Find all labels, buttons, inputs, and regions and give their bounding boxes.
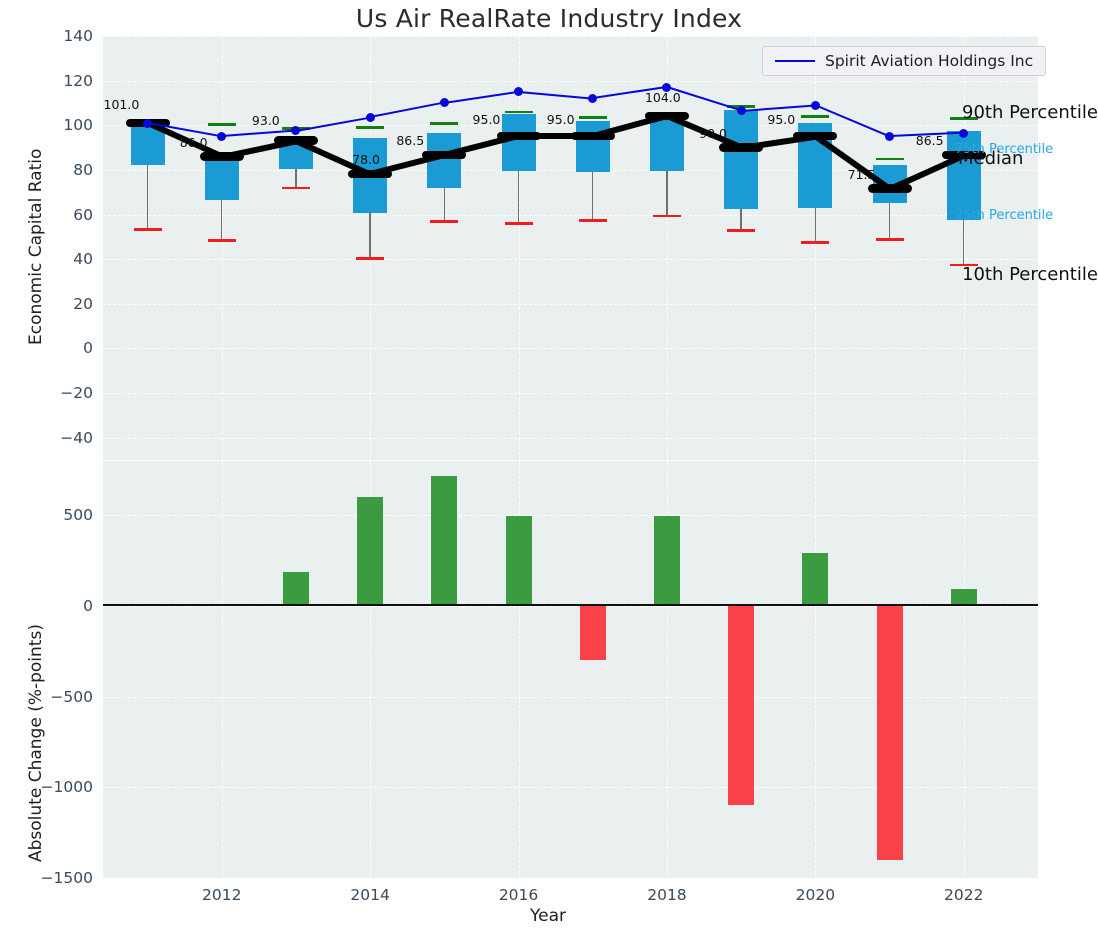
y-tick-label: 500 bbox=[5, 506, 93, 524]
p10-cap bbox=[727, 229, 755, 232]
median-marker bbox=[497, 132, 541, 141]
gridline-horizontal bbox=[103, 348, 1038, 349]
p10-cap bbox=[356, 257, 384, 260]
annotation-90th-percentile: 90th Percentile bbox=[962, 102, 1098, 123]
y-tick-label: 0 bbox=[5, 597, 93, 615]
peer-line-segment bbox=[370, 102, 445, 118]
peer-data-point bbox=[737, 106, 746, 115]
gridline-horizontal bbox=[103, 36, 1038, 37]
p10-cap bbox=[653, 215, 681, 218]
boxplot-box bbox=[724, 110, 758, 209]
bar-positive bbox=[802, 553, 828, 606]
peer-data-point bbox=[811, 101, 820, 110]
bar-positive bbox=[283, 572, 309, 606]
y-tick-label: 40 bbox=[5, 250, 93, 268]
p90-cap bbox=[801, 115, 829, 118]
p10-cap bbox=[282, 187, 310, 190]
p10-cap bbox=[208, 239, 236, 242]
median-marker bbox=[200, 152, 244, 161]
gridline-vertical bbox=[815, 461, 816, 878]
peer-line-segment bbox=[296, 116, 371, 131]
legend-spirit-aviation[interactable]: Spirit Aviation Holdings Inc bbox=[762, 46, 1046, 76]
median-value-label: 101.0 bbox=[104, 97, 140, 112]
y-tick-label: −40 bbox=[5, 429, 93, 447]
boxplot-box bbox=[502, 114, 536, 171]
p10-cap bbox=[801, 241, 829, 244]
median-marker bbox=[645, 112, 689, 121]
gridline-horizontal bbox=[103, 259, 1038, 260]
y-tick-label: 0 bbox=[5, 339, 93, 357]
median-value-label: 95.0 bbox=[473, 112, 501, 127]
annotation-10th-percentile: 10th Percentile bbox=[962, 264, 1098, 285]
gridline-vertical bbox=[815, 36, 816, 460]
y-tick-label: 60 bbox=[5, 206, 93, 224]
gridline-vertical bbox=[222, 461, 223, 878]
zero-baseline bbox=[103, 604, 1038, 606]
y-tick-label: 80 bbox=[5, 161, 93, 179]
gridline-horizontal bbox=[103, 438, 1038, 439]
x-tick-label: 2022 bbox=[924, 886, 1004, 904]
y-tick-label: 100 bbox=[5, 116, 93, 134]
x-axis-label: Year bbox=[530, 906, 566, 926]
legend-line-icon bbox=[775, 60, 815, 62]
x-tick-label: 2018 bbox=[627, 886, 707, 904]
median-value-label: 71.5 bbox=[848, 167, 876, 182]
x-tick-label: 2016 bbox=[479, 886, 559, 904]
median-value-label: 86.5 bbox=[916, 133, 944, 148]
peer-data-point bbox=[366, 113, 375, 122]
median-value-label: 90.0 bbox=[699, 126, 727, 141]
bar-negative bbox=[877, 606, 903, 860]
gridline-horizontal bbox=[103, 878, 1038, 879]
peer-data-point bbox=[885, 132, 894, 141]
y-tick-label: −1000 bbox=[5, 778, 93, 796]
p10-cap bbox=[505, 222, 533, 225]
economic-capital-ratio-plot-area: 101.086.093.078.086.595.095.0104.090.095… bbox=[103, 36, 1038, 460]
peer-data-point bbox=[588, 94, 597, 103]
median-marker bbox=[274, 136, 318, 145]
median-value-label: 86.5 bbox=[396, 133, 424, 148]
bar-positive bbox=[431, 476, 457, 607]
y-tick-label: −500 bbox=[5, 688, 93, 706]
chart-title: Us Air RealRate Industry Index bbox=[0, 4, 1098, 33]
gridline-horizontal bbox=[103, 304, 1038, 305]
absolute-change-plot-area bbox=[103, 461, 1038, 878]
bar-positive bbox=[654, 516, 680, 606]
legend-label: Spirit Aviation Holdings Inc bbox=[825, 52, 1033, 70]
peer-data-point bbox=[143, 119, 152, 128]
bar-negative bbox=[580, 606, 606, 660]
bar-positive bbox=[357, 497, 383, 606]
median-marker bbox=[422, 151, 466, 160]
gridline-vertical bbox=[222, 36, 223, 460]
p10-cap bbox=[430, 220, 458, 223]
median-value-label: 86.0 bbox=[180, 135, 208, 150]
gridline-horizontal bbox=[103, 515, 1038, 516]
chart-canvas: Us Air RealRate Industry Index 101.086.0… bbox=[0, 0, 1098, 942]
x-tick-label: 2014 bbox=[330, 886, 410, 904]
gridline-vertical bbox=[519, 36, 520, 460]
peer-line-segment bbox=[518, 91, 592, 100]
y-tick-label: 120 bbox=[5, 72, 93, 90]
gridline-horizontal bbox=[103, 215, 1038, 216]
p90-cap bbox=[208, 123, 236, 126]
annotation-median: Median bbox=[958, 148, 1023, 169]
peer-data-point bbox=[959, 129, 968, 138]
p90-cap bbox=[430, 122, 458, 125]
p90-cap bbox=[505, 111, 533, 114]
p90-cap bbox=[356, 126, 384, 129]
median-marker bbox=[571, 132, 615, 141]
p90-cap bbox=[579, 116, 607, 119]
y-axis-label-bottom: Absolute Change (%-points) bbox=[26, 624, 46, 862]
x-tick-label: 2012 bbox=[182, 886, 262, 904]
bar-positive bbox=[506, 516, 532, 606]
y-axis-label-top: Economic Capital Ratio bbox=[26, 149, 46, 345]
peer-line-segment bbox=[444, 91, 518, 104]
peer-data-point bbox=[440, 98, 449, 107]
bar-negative bbox=[728, 606, 754, 805]
gridline-horizontal bbox=[103, 81, 1038, 82]
p10-cap bbox=[876, 238, 904, 241]
p10-cap bbox=[579, 219, 607, 222]
y-tick-label: −1500 bbox=[5, 869, 93, 887]
median-value-label: 104.0 bbox=[645, 90, 681, 105]
y-tick-label: 140 bbox=[5, 27, 93, 45]
peer-data-point bbox=[217, 132, 226, 141]
median-marker bbox=[868, 184, 912, 193]
p10-cap bbox=[134, 228, 162, 231]
y-tick-label: −20 bbox=[5, 384, 93, 402]
gridline-vertical bbox=[964, 461, 965, 878]
median-marker bbox=[793, 132, 837, 141]
median-value-label: 95.0 bbox=[767, 112, 795, 127]
median-value-label: 93.0 bbox=[252, 113, 280, 128]
median-marker bbox=[348, 170, 392, 179]
median-value-label: 95.0 bbox=[547, 112, 575, 127]
y-tick-label: 20 bbox=[5, 295, 93, 313]
annotation-25th-percentile: 25th Percentile bbox=[955, 208, 1053, 223]
median-value-label: 78.0 bbox=[352, 152, 380, 167]
median-marker bbox=[719, 143, 763, 152]
x-tick-label: 2020 bbox=[775, 886, 855, 904]
peer-data-point bbox=[291, 126, 300, 135]
peer-data-point bbox=[514, 87, 523, 96]
p90-cap bbox=[876, 158, 904, 161]
gridline-horizontal bbox=[103, 393, 1038, 394]
